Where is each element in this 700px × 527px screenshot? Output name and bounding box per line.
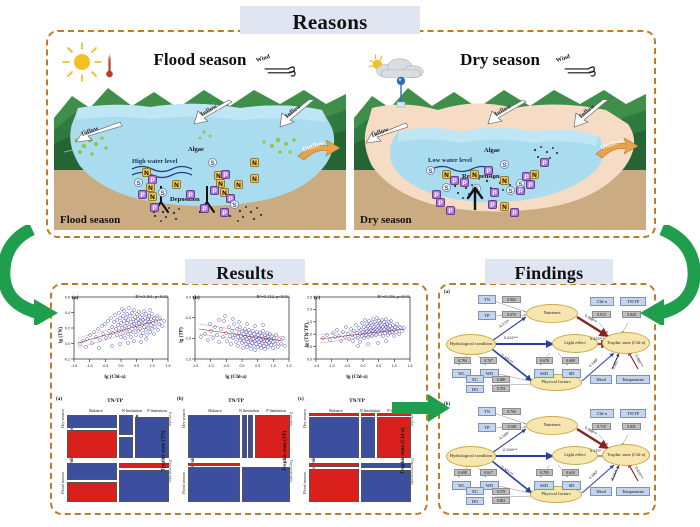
loading-SSD: 0.795 bbox=[536, 469, 553, 476]
dry-season-scene: Dry season Dry season bbox=[354, 40, 646, 230]
tile bbox=[242, 467, 290, 502]
section-header-reasons: Reasons bbox=[240, 6, 420, 34]
scatter-b-canvas: -1.5-1.0-0.5 0.00.51.01.5 -1.5-1.0-0.50.… bbox=[177, 291, 295, 379]
token-P: P bbox=[186, 190, 195, 199]
loading-chla: 0.913 bbox=[592, 311, 611, 318]
loading-TN: 0.802 bbox=[502, 296, 521, 303]
token-P: P bbox=[484, 166, 493, 175]
section-header-results: Results bbox=[185, 259, 305, 284]
mosaic-a-right-cat-1: Eutrophic bbox=[168, 412, 172, 426]
mosaic-b-col-balance: Balance bbox=[189, 408, 241, 413]
algae-label-dry: Algae bbox=[484, 147, 500, 154]
mosaic-a-row-dry: Dry season bbox=[60, 409, 65, 428]
token-P: P bbox=[526, 180, 535, 189]
loading-SSD: 0.678 bbox=[536, 357, 553, 364]
loading-TP: -0.590 bbox=[502, 423, 521, 430]
tile bbox=[119, 470, 169, 502]
svg-text:0.5: 0.5 bbox=[376, 364, 381, 368]
node-EC: EC bbox=[466, 487, 484, 495]
tile bbox=[67, 415, 117, 428]
loading-DO: 0.792 bbox=[492, 385, 510, 392]
token-N: N bbox=[530, 170, 539, 179]
mosaic-c-row-flood: Flood season bbox=[302, 472, 307, 494]
mosaic-a-title: TN/TP bbox=[56, 398, 174, 404]
path-label-light-trophic: 0.323*** bbox=[590, 337, 604, 341]
node-SD: SD bbox=[562, 481, 581, 490]
svg-text:1.0: 1.0 bbox=[392, 364, 397, 368]
scatter-c-panel-tag: (c) bbox=[314, 295, 320, 301]
tile bbox=[67, 482, 117, 502]
node-nutrients: Nutrients bbox=[526, 304, 578, 323]
scatter-b-panel-tag: (b) bbox=[193, 295, 200, 301]
tile bbox=[119, 415, 133, 435]
tile bbox=[309, 463, 359, 467]
mosaic-a-ylabel-right: Trophic state (TN) bbox=[160, 430, 166, 471]
mosaic-c-right-cat-2: Oligo-mesotrophic bbox=[410, 458, 414, 485]
node-DO: DO bbox=[466, 497, 484, 505]
svg-text:1.5: 1.5 bbox=[408, 364, 413, 368]
node-temperature: Temperature bbox=[616, 375, 650, 384]
tile bbox=[248, 415, 253, 458]
token-P: P bbox=[150, 203, 159, 212]
svg-text:1.0: 1.0 bbox=[150, 364, 155, 368]
svg-text:-0.5: -0.5 bbox=[102, 364, 108, 368]
loading-TP: 0.676 bbox=[502, 311, 521, 318]
svg-text:0.5: 0.5 bbox=[255, 364, 260, 368]
token-P: P bbox=[221, 170, 230, 179]
scatter-c-xlabel: lg (Chl-a) bbox=[298, 374, 416, 380]
svg-text:-0.5: -0.5 bbox=[185, 316, 191, 320]
mosaic-a-col-balance: Balance bbox=[68, 408, 124, 413]
token-P: P bbox=[450, 176, 459, 185]
loading-SD: 0.620 bbox=[562, 469, 579, 476]
token-N: N bbox=[250, 158, 259, 167]
svg-text:-1.5: -1.5 bbox=[192, 364, 198, 368]
svg-text:1.0: 1.0 bbox=[271, 364, 276, 368]
node-temperature: Temperature bbox=[616, 487, 650, 496]
node-chla: Chl-a bbox=[590, 297, 614, 306]
token-N: N bbox=[172, 180, 181, 189]
scatter-b-xlabel: lg (Chl-a) bbox=[177, 374, 295, 380]
token-S: S bbox=[230, 200, 239, 209]
resuspension-arrow-dry bbox=[464, 180, 486, 210]
loading-SD: 0.688 bbox=[562, 357, 579, 364]
token-P: P bbox=[510, 208, 519, 217]
tile bbox=[188, 463, 240, 466]
token-S: S bbox=[500, 160, 509, 169]
flow-arrow-right bbox=[612, 225, 700, 325]
loading-EC: 0.579 bbox=[492, 488, 510, 495]
tile bbox=[361, 470, 411, 502]
node-EC: EC bbox=[466, 375, 484, 383]
node-wind: Wind bbox=[590, 487, 612, 496]
mosaic-b-col-plimit: P limitation bbox=[259, 408, 293, 413]
node-wind: Wind bbox=[590, 375, 612, 384]
mosaic-a-row-flood: Flood season bbox=[60, 472, 65, 494]
token-P: P bbox=[490, 188, 499, 197]
token-S: S bbox=[442, 183, 451, 192]
tile bbox=[309, 417, 359, 458]
mosaic-c-row-dry: Dry season bbox=[302, 409, 307, 428]
token-P: P bbox=[210, 186, 219, 195]
tile bbox=[67, 430, 117, 458]
mosaic-plot-a: (a) TN/TP Balance N limitation P limitat… bbox=[56, 396, 174, 506]
loading-WD: 0.617 bbox=[480, 469, 497, 476]
svg-text:2.5: 2.5 bbox=[307, 295, 312, 299]
token-S: S bbox=[208, 158, 217, 167]
token-P: P bbox=[488, 200, 497, 209]
dry-scene-title: Dry season bbox=[354, 50, 646, 70]
svg-text:-0.5: -0.5 bbox=[223, 364, 229, 368]
tile bbox=[188, 467, 240, 502]
scatter-plot-c: -1.5-1.0-0.5 0.00.51.01.5 0.00.51.0 1.52… bbox=[298, 291, 416, 379]
node-nutrients: Nutrients bbox=[526, 416, 578, 435]
flow-arrow-left bbox=[0, 225, 86, 325]
token-S: S bbox=[134, 178, 143, 187]
tile bbox=[361, 413, 375, 416]
scatter-c-annotation: R²=0.136, p<0.01 bbox=[377, 294, 410, 299]
token-S: S bbox=[506, 186, 515, 195]
scatter-b-ylabel: lg (TP) bbox=[179, 327, 185, 342]
mosaic-b-title: TN/TP bbox=[177, 398, 295, 404]
token-N: N bbox=[146, 183, 155, 192]
svg-text:-1.0: -1.0 bbox=[207, 364, 213, 368]
loading-DO: 0.861 bbox=[492, 497, 510, 504]
node-SD: SD bbox=[562, 369, 581, 378]
path-label-light-trophic: 0.170* bbox=[590, 449, 601, 453]
flood-scene-title: Flood season bbox=[54, 50, 346, 70]
scatter-a-xlabel: lg (Chl-a) bbox=[56, 374, 174, 380]
token-S: S bbox=[426, 166, 435, 175]
loading-WL: 0.698 bbox=[454, 469, 471, 476]
scatter-c-ylabel: lg (TN/TP) bbox=[304, 323, 310, 347]
mosaic-c-ylabel-right: Trophic state (Chl-a) bbox=[400, 428, 406, 474]
loading-EC: 0.480 bbox=[492, 376, 510, 383]
svg-text:-1.5: -1.5 bbox=[71, 364, 77, 368]
svg-text:1.5: 1.5 bbox=[166, 364, 171, 368]
token-P: P bbox=[446, 206, 455, 215]
loading-WD: 0.767 bbox=[480, 357, 497, 364]
node-TP: TP bbox=[478, 311, 496, 320]
tile bbox=[67, 463, 117, 480]
token-N: N bbox=[250, 174, 259, 183]
tile bbox=[119, 437, 133, 458]
token-S: S bbox=[158, 188, 167, 197]
path-label-hydro-light: 0.412*** bbox=[504, 336, 518, 340]
token-N: N bbox=[500, 176, 509, 185]
svg-text:0.5: 0.5 bbox=[134, 364, 139, 368]
svg-text:0.2: 0.2 bbox=[65, 326, 70, 330]
tile bbox=[188, 415, 240, 458]
node-chla: Chl-a bbox=[590, 409, 614, 418]
graphical-abstract: Reasons Results Findings bbox=[0, 0, 700, 527]
node-SSD: SSD bbox=[534, 481, 554, 490]
svg-text:-0.5: -0.5 bbox=[344, 364, 350, 368]
mosaic-a-right-cat-2: Hypereutrophic bbox=[168, 460, 172, 483]
token-N: N bbox=[500, 202, 509, 211]
tile bbox=[242, 415, 247, 458]
tile bbox=[309, 469, 359, 502]
svg-text:2.0: 2.0 bbox=[307, 308, 312, 312]
token-P: P bbox=[200, 204, 209, 213]
mosaic-b-right-cat-2: Hypereutrophic bbox=[289, 460, 293, 483]
node-tntp: TN/TP bbox=[620, 409, 646, 418]
token-P: P bbox=[138, 190, 147, 199]
svg-text:0.0: 0.0 bbox=[361, 364, 366, 368]
water-level-label-dry: Low water level bbox=[428, 157, 472, 164]
reasons-panel: Flood season Flood season bbox=[46, 30, 656, 238]
svg-text:0.0: 0.0 bbox=[119, 364, 124, 368]
svg-text:-1.0: -1.0 bbox=[328, 364, 334, 368]
scatter-c-canvas: -1.5-1.0-0.5 0.00.51.01.5 0.00.51.0 1.52… bbox=[298, 291, 416, 379]
scatter-a-annotation: R²=0.161, p<0.01 bbox=[135, 294, 168, 299]
svg-text:0.0: 0.0 bbox=[65, 342, 70, 346]
loading-tntp: 0.831 bbox=[622, 423, 641, 430]
scatter-b-annotation: R²=0.112, p<0.01 bbox=[257, 294, 289, 299]
node-hydrological-condition: Hydrological condition bbox=[446, 334, 496, 355]
node-trophic-state: Trophic state (Chl-a) bbox=[602, 332, 650, 354]
path-diagram-b: (b) TN TP bbox=[442, 401, 652, 505]
scatter-a-ylabel: lg (TN) bbox=[58, 327, 64, 343]
scatter-plot-b: -1.5-1.0-0.5 0.00.51.01.5 -1.5-1.0-0.50.… bbox=[177, 291, 295, 379]
raindrop-icon bbox=[394, 76, 408, 108]
node-DO: DO bbox=[466, 385, 484, 393]
token-P: P bbox=[220, 208, 229, 217]
mosaic-plot-b: (b) TN/TP Balance N limitation P limitat… bbox=[177, 396, 295, 506]
mosaic-b-row-dry: Dry season bbox=[181, 409, 186, 428]
section-header-findings: Findings bbox=[485, 259, 613, 284]
svg-text:-0.2: -0.2 bbox=[64, 357, 70, 361]
loading-WL: 0.784 bbox=[454, 357, 471, 364]
svg-text:0.0: 0.0 bbox=[240, 364, 245, 368]
svg-text:-1.5: -1.5 bbox=[185, 357, 191, 361]
mosaic-b-row-flood: Flood season bbox=[181, 472, 186, 494]
svg-text:-1.5: -1.5 bbox=[313, 364, 319, 368]
path-label-hydro-light: -0.294*** bbox=[502, 448, 517, 452]
node-TP: TP bbox=[478, 423, 496, 432]
flow-arrow-middle bbox=[392, 392, 452, 432]
node-SSD: SSD bbox=[534, 369, 554, 378]
token-P: P bbox=[436, 198, 445, 207]
algae-label-flood: Algae bbox=[188, 146, 204, 153]
dry-corner-label: Dry season bbox=[360, 214, 412, 226]
token-P: P bbox=[540, 158, 549, 167]
loading-chla: 0.710 bbox=[592, 423, 611, 430]
svg-text:0.0: 0.0 bbox=[186, 295, 191, 299]
node-TN: TN bbox=[478, 407, 496, 416]
tile bbox=[361, 417, 375, 458]
mosaic-b-ylabel-right: Trophic state (TP) bbox=[282, 431, 288, 471]
mosaic-b-right-cat-1: Eutrophic bbox=[289, 412, 293, 426]
loading-TN: 0.706 bbox=[502, 408, 521, 415]
path-a-panel-tag: (a) bbox=[444, 290, 450, 295]
token-N: N bbox=[148, 192, 157, 201]
flood-season-scene: Flood season Flood season bbox=[54, 40, 346, 230]
node-TN: TN bbox=[478, 295, 496, 304]
svg-text:-1.0: -1.0 bbox=[86, 364, 92, 368]
tile bbox=[309, 413, 359, 416]
node-hydrological-condition: Hydrological condition bbox=[446, 446, 496, 467]
svg-text:1.5: 1.5 bbox=[287, 364, 292, 368]
token-N: N bbox=[234, 180, 243, 189]
token-N: N bbox=[470, 170, 479, 179]
svg-text:-1.0: -1.0 bbox=[185, 337, 191, 341]
node-trophic-state: Trophic state (Chl-a) bbox=[602, 444, 650, 466]
svg-text:0.0: 0.0 bbox=[307, 357, 312, 361]
